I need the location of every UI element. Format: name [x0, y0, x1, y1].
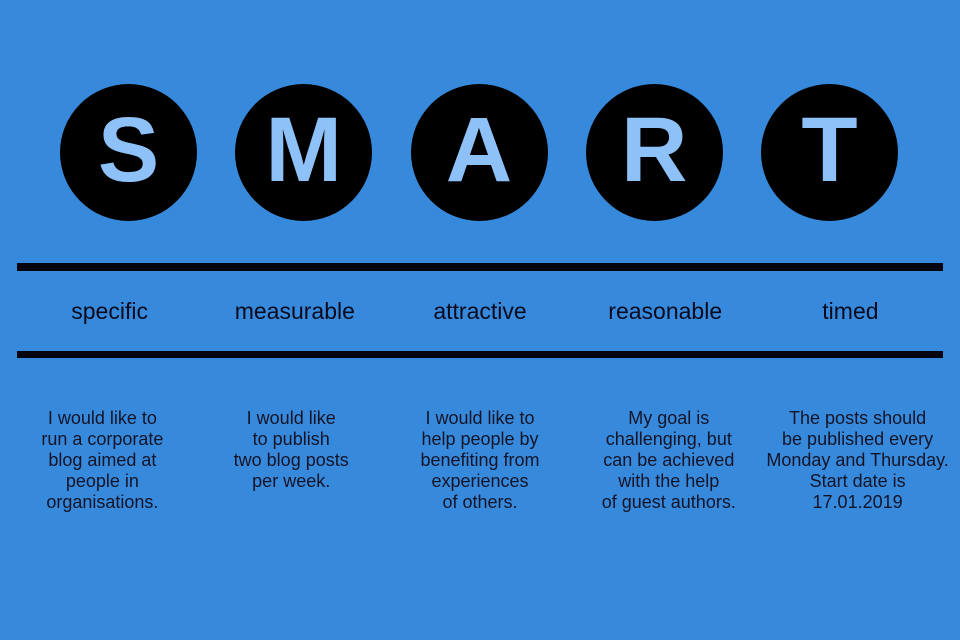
description-line: I would like to	[10, 408, 195, 429]
description-line: per week.	[199, 471, 384, 492]
description-line: Monday and Thursday.	[765, 450, 950, 471]
description-line: with the help	[576, 471, 761, 492]
description-line: run a corporate	[10, 429, 195, 450]
circle-badge-t-icon: T	[761, 84, 898, 221]
description-line: benefiting from	[388, 450, 573, 471]
acronym-circles-row: S M A R T	[60, 83, 898, 221]
smart-goals-infographic: S M A R T specific measurable attractive…	[0, 0, 960, 640]
acronym-letter: R	[621, 104, 687, 196]
description-line: can be achieved	[576, 450, 761, 471]
description-line: blog aimed at	[10, 450, 195, 471]
divider-bottom	[17, 351, 943, 358]
description-line: challenging, but	[576, 429, 761, 450]
description-line: organisations.	[10, 492, 195, 513]
column-labels-row: specific measurable attractive reasonabl…	[17, 274, 943, 350]
description-line: 17.01.2019	[765, 492, 950, 513]
circle-badge-s-icon: S	[60, 84, 197, 221]
circle-badge-r-icon: R	[586, 84, 723, 221]
description-line: of guest authors.	[576, 492, 761, 513]
description-line: experiences	[388, 471, 573, 492]
column-description-reasonable: My goal is challenging, but can be achie…	[574, 408, 763, 513]
acronym-letter: M	[265, 104, 342, 196]
description-line: be published every	[765, 429, 950, 450]
description-line: My goal is	[576, 408, 761, 429]
divider-top	[17, 263, 943, 271]
column-label-timed: timed	[758, 299, 943, 324]
acronym-letter: T	[801, 104, 857, 196]
description-line: people in	[10, 471, 195, 492]
description-line: Start date is	[765, 471, 950, 492]
column-description-measurable: I would like to publish two blog posts p…	[197, 408, 386, 492]
description-line: I would like	[199, 408, 384, 429]
description-line: I would like to	[388, 408, 573, 429]
description-line: The posts should	[765, 408, 950, 429]
description-line: help people by	[388, 429, 573, 450]
description-line: two blog posts	[199, 450, 384, 471]
circle-badge-a-icon: A	[411, 84, 548, 221]
acronym-letter: A	[446, 104, 512, 196]
acronym-letter: S	[98, 104, 159, 196]
column-description-timed: The posts should be published every Mond…	[763, 408, 952, 513]
column-label-measurable: measurable	[202, 299, 387, 324]
description-line: to publish	[199, 429, 384, 450]
column-descriptions-row: I would like to run a corporate blog aim…	[8, 408, 952, 513]
column-label-attractive: attractive	[387, 299, 572, 324]
circle-badge-m-icon: M	[235, 84, 372, 221]
column-description-specific: I would like to run a corporate blog aim…	[8, 408, 197, 513]
description-line: of others.	[388, 492, 573, 513]
column-label-reasonable: reasonable	[573, 299, 758, 324]
column-description-attractive: I would like to help people by benefitin…	[386, 408, 575, 513]
column-label-specific: specific	[17, 299, 202, 324]
